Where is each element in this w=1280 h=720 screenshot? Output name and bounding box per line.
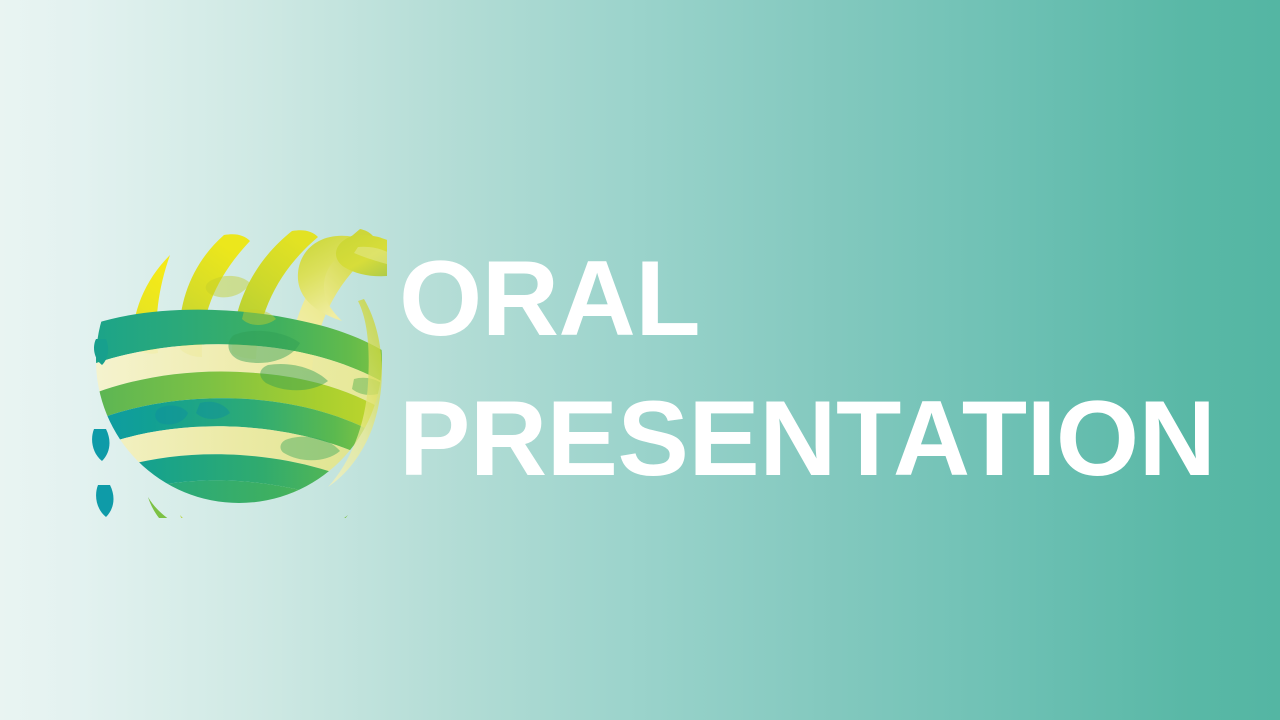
- globe-graphic: [92, 229, 387, 518]
- presentation-slide: ORAL PRESENTATION: [0, 0, 1280, 720]
- title-line-presentation: PRESENTATION: [399, 368, 1219, 508]
- globe-ribbon-leaf-logo: [92, 203, 387, 518]
- title-line-oral: ORAL: [399, 228, 1219, 368]
- slide-title: ORAL PRESENTATION: [399, 228, 1219, 508]
- globe-ribbon-bands: [92, 276, 387, 518]
